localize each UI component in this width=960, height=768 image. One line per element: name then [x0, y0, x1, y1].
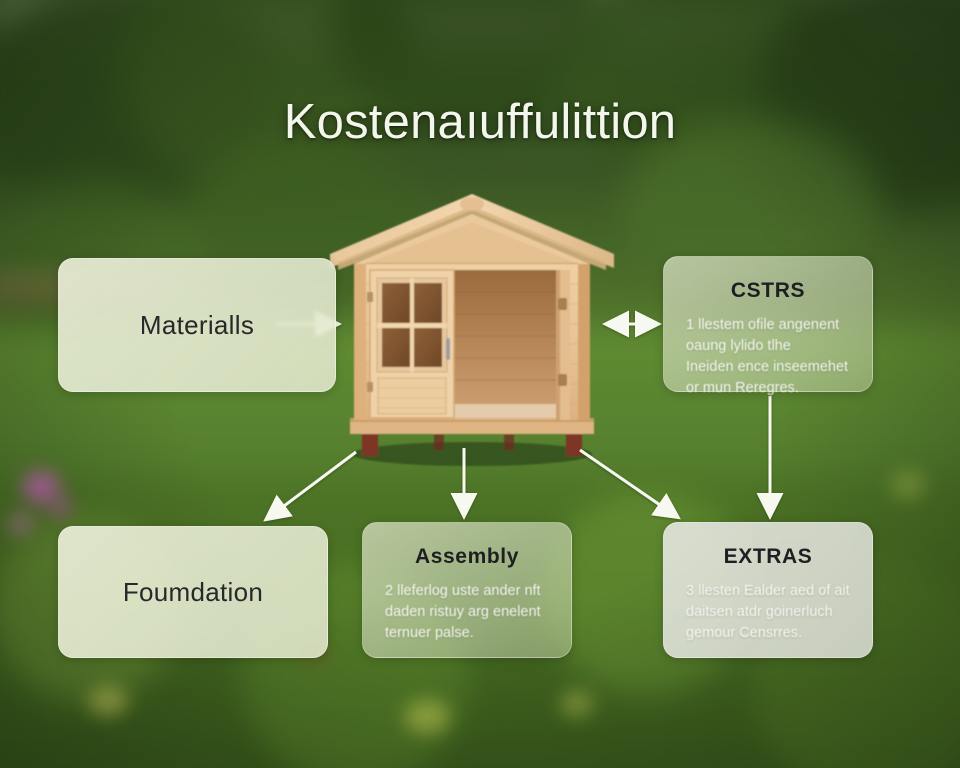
page-title: Kostenaıuffulittion — [0, 94, 960, 150]
box-foundation-label: Foumdation — [123, 577, 263, 608]
box-assembly-line: daden ristuy arg enelent — [385, 602, 549, 623]
box-costs-body: 1 llestem ofile angenent oaung lylido tl… — [664, 315, 872, 399]
box-costs-line: oaung lylido tlhe — [686, 336, 850, 357]
box-extras-body: 3 llesten Ealder aed of ait daitsen atdr… — [664, 581, 872, 644]
box-extras-line: gemour Censrres. — [686, 623, 850, 644]
box-assembly-line: 2 lleferlog uste ander nft — [385, 581, 549, 602]
box-extras-heading: EXTRAS — [664, 545, 872, 569]
box-costs-line: or mun Reregres. — [686, 378, 850, 399]
box-costs-line: 1 llestem ofile angenent — [686, 315, 850, 336]
box-costs[interactable]: CSTRS 1 llestem ofile angenent oaung lyl… — [663, 256, 873, 392]
box-extras-line: 3 llesten Ealder aed of ait — [686, 581, 850, 602]
box-materials[interactable]: Materialls — [58, 258, 336, 392]
box-extras-line: daitsen atdr goinerluch — [686, 602, 850, 623]
box-assembly[interactable]: Assembly 2 lleferlog uste ander nft dade… — [362, 522, 572, 658]
infographic-canvas: Kostenaıuffulittion — [0, 0, 960, 768]
wooden-garden-shed-illustration — [322, 192, 622, 472]
box-costs-line: Ineiden ence inseemehet — [686, 357, 850, 378]
box-materials-label: Materialls — [140, 310, 254, 341]
box-assembly-line: ternuer palse. — [385, 623, 549, 644]
box-extras[interactable]: EXTRAS 3 llesten Ealder aed of ait daits… — [663, 522, 873, 658]
box-foundation[interactable]: Foumdation — [58, 526, 328, 658]
box-assembly-heading: Assembly — [363, 545, 571, 569]
box-assembly-body: 2 lleferlog uste ander nft daden ristuy … — [363, 581, 571, 644]
box-costs-heading: CSTRS — [664, 279, 872, 303]
